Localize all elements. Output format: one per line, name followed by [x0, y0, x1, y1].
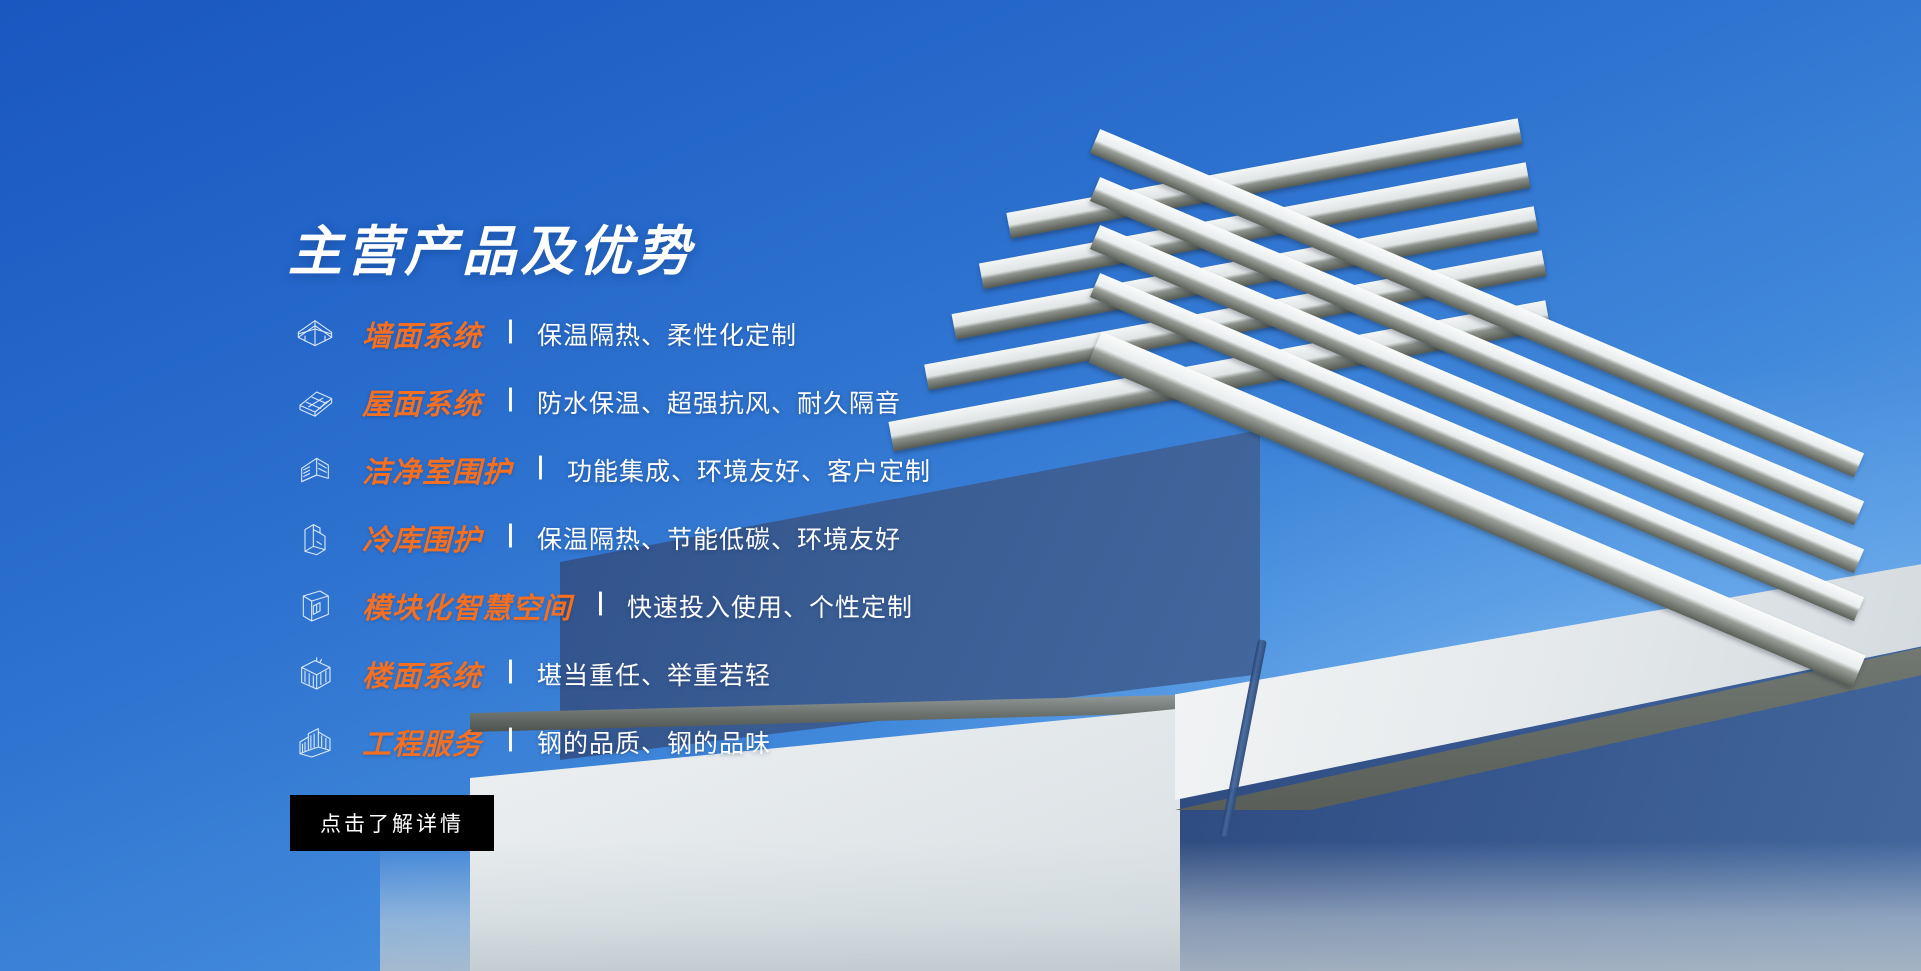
- feature-label: 墙面系统: [362, 313, 482, 355]
- feature-separator: 丨: [498, 389, 523, 414]
- feature-separator: 丨: [498, 321, 523, 346]
- feature-label: 洁净室围护: [362, 449, 512, 491]
- feature-label: 楼面系统: [362, 653, 482, 695]
- feature-separator: 丨: [498, 525, 523, 550]
- wall-panel-icon: [288, 311, 342, 357]
- feature-row[interactable]: 墙面系统丨保温隔热、柔性化定制: [288, 300, 1098, 368]
- feature-label: 工程服务: [362, 721, 482, 763]
- feature-label: 冷库围护: [362, 517, 482, 559]
- feature-description: 保温隔热、柔性化定制: [537, 316, 797, 352]
- feature-row[interactable]: 工程服务丨钢的品质、钢的品味: [288, 708, 1098, 776]
- feature-description: 防水保温、超强抗风、耐久隔音: [537, 384, 901, 420]
- feature-row[interactable]: 楼面系统丨堪当重任、举重若轻: [288, 640, 1098, 708]
- feature-separator: 丨: [498, 729, 523, 754]
- roof-panel-icon: [288, 379, 342, 425]
- feature-label: 模块化智慧空间: [362, 585, 572, 627]
- hero-banner: 主营产品及优势 墙面系统丨保温隔热、柔性化定制屋面系统丨防水保温、超强抗风、耐久…: [0, 0, 1921, 971]
- feature-description: 快速投入使用、个性定制: [627, 588, 913, 624]
- feature-description: 堪当重任、举重若轻: [537, 656, 771, 692]
- feature-description: 钢的品质、钢的品味: [537, 724, 771, 760]
- feature-description: 保温隔热、节能低碳、环境友好: [537, 520, 901, 556]
- feature-row[interactable]: 模块化智慧空间丨快速投入使用、个性定制: [288, 572, 1098, 640]
- page-title: 主营产品及优势: [288, 207, 694, 286]
- feature-row[interactable]: 屋面系统丨防水保温、超强抗风、耐久隔音: [288, 368, 1098, 436]
- modular-space-icon: [288, 583, 342, 629]
- feature-row[interactable]: 洁净室围护丨功能集成、环境友好、客户定制: [288, 436, 1098, 504]
- feature-description: 功能集成、环境友好、客户定制: [567, 452, 931, 488]
- feature-row[interactable]: 冷库围护丨保温隔热、节能低碳、环境友好: [288, 504, 1098, 572]
- floor-system-icon: [288, 651, 342, 697]
- engineering-service-icon: [288, 719, 342, 765]
- feature-label: 屋面系统: [362, 381, 482, 423]
- learn-more-button[interactable]: 点击了解详情: [290, 795, 494, 851]
- feature-separator: 丨: [588, 593, 613, 618]
- banner-content: 主营产品及优势 墙面系统丨保温隔热、柔性化定制屋面系统丨防水保温、超强抗风、耐久…: [0, 0, 1100, 971]
- feature-list: 墙面系统丨保温隔热、柔性化定制屋面系统丨防水保温、超强抗风、耐久隔音洁净室围护丨…: [288, 300, 1098, 776]
- feature-separator: 丨: [528, 457, 553, 482]
- cold-storage-icon: [288, 515, 342, 561]
- cleanroom-icon: [288, 447, 342, 493]
- feature-separator: 丨: [498, 661, 523, 686]
